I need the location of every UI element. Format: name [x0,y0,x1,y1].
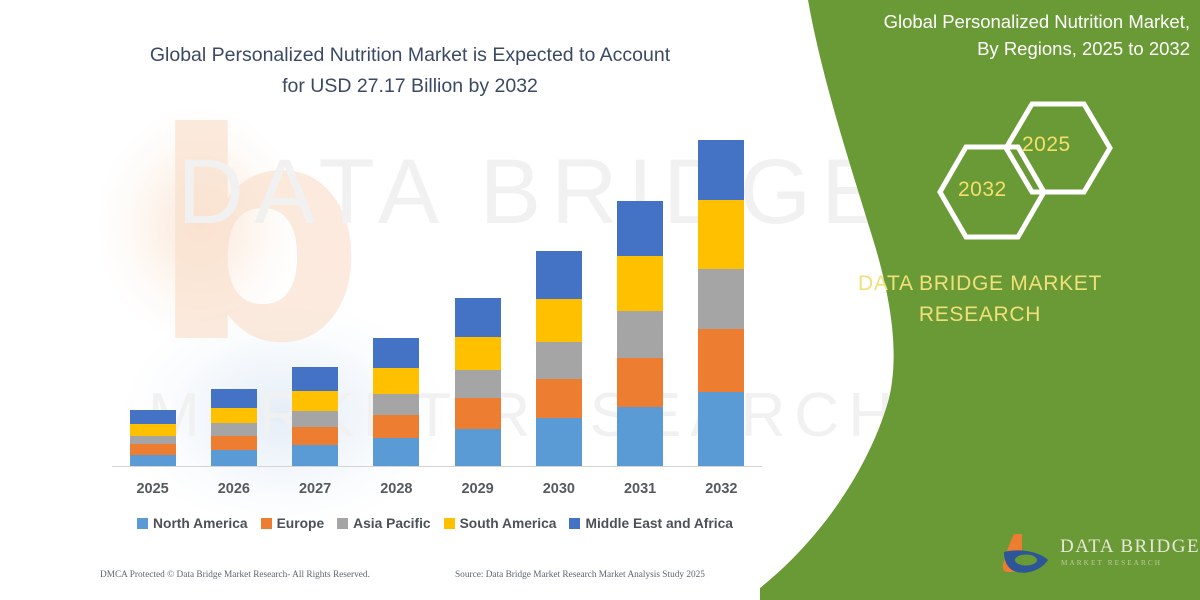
bar-segment [536,418,582,466]
bar-segment [292,411,338,427]
bar-column [524,140,594,466]
x-axis-label: 2029 [443,481,513,497]
bar-segment [292,391,338,411]
x-axis-label: 2030 [524,481,594,497]
bar-segment [455,370,501,398]
bar-segment [211,423,257,435]
bar-segment [536,251,582,299]
bar-segment [698,392,744,466]
bar-segment [455,398,501,429]
bar-segment [455,429,501,466]
bar-column [443,140,513,466]
legend-label: Europe [277,516,325,531]
legend-item[interactable]: Asia Pacific [337,516,430,531]
bar-segment [698,140,744,200]
hexagon-label-2032: 2032 [958,178,1007,202]
x-axis-label: 2032 [686,481,756,497]
legend-item[interactable]: Middle East and Africa [569,516,732,531]
data-bridge-logo-text: DATA BRIDGE [1060,536,1200,558]
bar-segment [130,410,176,424]
bar-segment [373,368,419,394]
green-panel-brand-line-1: DATA BRIDGE MARKET [858,272,1102,295]
legend-item[interactable]: South America [444,516,557,531]
x-axis-label: 2028 [361,481,431,497]
hexagon-label-2025: 2025 [1022,133,1071,157]
bar-segment [617,256,663,311]
x-axis-label: 2025 [118,481,188,497]
legend-item[interactable]: North America [137,516,248,531]
bar-column [118,140,188,466]
legend-swatch-icon [337,518,348,529]
bar-segment [373,415,419,439]
chart-title-line-2: for USD 27.17 Billion by 2032 [282,75,538,97]
x-axis-labels: 20252026202720282029203020312032 [112,476,762,502]
bar-segment [698,329,744,392]
bar-segment [373,338,419,368]
bar-segment [292,445,338,466]
x-axis-label: 2027 [280,481,350,497]
data-bridge-logo-subtitle: MARKET RESEARCH [1061,559,1162,567]
bar-segment [292,367,338,391]
footer-source: Source: Data Bridge Market Research Mark… [455,570,705,580]
stacked-bar [211,389,257,466]
bar-segment [617,407,663,466]
bar-segment [211,436,257,450]
stacked-bar [536,251,582,466]
chart-legend: North AmericaEuropeAsia PacificSouth Ame… [100,512,770,534]
stacked-bar [698,140,744,466]
bar-segment [211,408,257,423]
bar-segment [698,269,744,329]
footer-copyright: DMCA Protected © Data Bridge Market Rese… [100,570,370,580]
bar-segment [536,299,582,343]
bar-column [280,140,350,466]
bar-segment [130,444,176,454]
stacked-bar [617,201,663,466]
legend-swatch-icon [137,518,148,529]
chart-title: Global Personalized Nutrition Market is … [60,40,760,102]
bar-segment [617,311,663,358]
stacked-bar [292,367,338,466]
data-bridge-logo-icon [1000,532,1056,580]
infographic-canvas: b DATA BRIDGE MARKET RESEARCH Global Per… [0,0,1200,600]
bar-segment [130,424,176,435]
stacked-bar-chart [112,140,762,466]
bar-segment [211,450,257,466]
legend-swatch-icon [569,518,580,529]
bar-segment [373,394,419,415]
bar-segment [455,337,501,370]
legend-label: North America [153,516,248,531]
legend-label: South America [460,516,557,531]
x-axis-label: 2031 [605,481,675,497]
green-panel-brand: DATA BRIDGE MARKET RESEARCH [800,268,1160,330]
legend-label: Asia Pacific [353,516,430,531]
legend-swatch-icon [444,518,455,529]
bar-segment [130,436,176,445]
bar-segment [373,438,419,466]
chart-plot-area [112,140,762,466]
legend-swatch-icon [261,518,272,529]
stacked-bar [455,298,501,466]
legend-item[interactable]: Europe [261,516,325,531]
bar-segment [130,455,176,466]
bar-segment [617,201,663,256]
legend-label: Middle East and Africa [585,516,732,531]
chart-title-line-1: Global Personalized Nutrition Market is … [150,44,670,66]
bar-segment [211,389,257,408]
bar-segment [536,342,582,378]
bar-segment [617,358,663,407]
stacked-bar [373,338,419,466]
x-axis-label: 2026 [199,481,269,497]
bar-column [686,140,756,466]
bar-segment [292,427,338,445]
bar-segment [536,379,582,419]
bar-segment [455,298,501,337]
green-panel-content: Global Personalized Nutrition Market, By… [760,0,1200,600]
bar-column [199,140,269,466]
stacked-bar [130,410,176,466]
bar-column [605,140,675,466]
data-bridge-logo: DATA BRIDGE MARKET RESEARCH [1000,528,1185,584]
x-axis-line [112,466,762,467]
bar-segment [698,200,744,269]
green-panel-brand-line-2: RESEARCH [919,303,1041,326]
bar-column [361,140,431,466]
